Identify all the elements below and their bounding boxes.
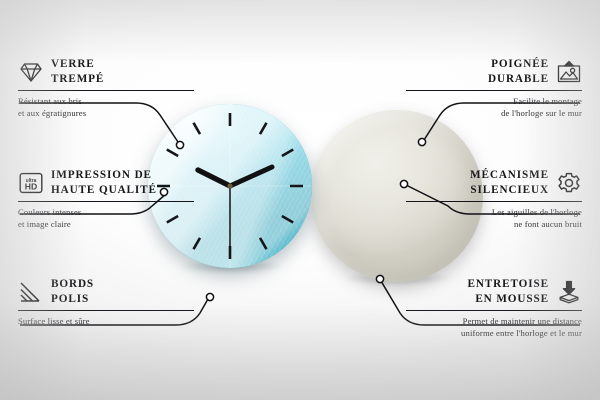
- feature-title: POIGNÉE DURABLE: [488, 57, 549, 87]
- polished-edge-icon: [18, 280, 44, 304]
- feature-entretoise-en-mousse: ENTRETOISE EN MOUSSE Permet de maintenir…: [406, 277, 582, 340]
- feature-description: Surface lisse et sûre: [18, 315, 194, 327]
- feature-bords-polis: BORDS POLIS Surface lisse et sûre: [18, 277, 194, 327]
- feature-description: Facilite le montage de l'horloge sur le …: [406, 95, 582, 119]
- gear-icon: [556, 171, 582, 195]
- feature-description: Résistant aux bris et aux égratignures: [18, 95, 194, 119]
- feature-title: BORDS POLIS: [51, 277, 94, 307]
- product-infographic: VERRE TREMPÉ Résistant aux bris et aux é…: [0, 0, 600, 400]
- picture-hanger-icon: [556, 60, 582, 84]
- feature-divider: [406, 201, 582, 203]
- feature-divider: [18, 201, 194, 203]
- feature-title: VERRE TREMPÉ: [51, 57, 104, 87]
- foam-spacer-icon: [556, 280, 582, 304]
- feature-verre-trempe: VERRE TREMPÉ Résistant aux bris et aux é…: [18, 57, 194, 120]
- feature-description: Couleurs intenses et image claire: [18, 206, 194, 230]
- feature-divider: [406, 310, 582, 312]
- feature-impression-haute-qualite: ultra HD IMPRESSION DE HAUTE QUALITÉ Cou…: [18, 168, 194, 231]
- feature-title: MÉCANISME SILENCIEUX: [470, 168, 549, 198]
- feature-divider: [18, 310, 194, 312]
- feature-divider: [18, 90, 194, 92]
- feature-description: Les aiguilles de l'horloge ne font aucun…: [406, 206, 582, 230]
- feature-divider: [406, 90, 582, 92]
- feature-title: ENTRETOISE EN MOUSSE: [467, 277, 549, 307]
- feature-mecanisme-silencieux: MÉCANISME SILENCIEUX Les aiguilles de l'…: [406, 168, 582, 231]
- feature-description: Permet de maintenir une distance uniform…: [406, 315, 582, 339]
- clock-center-cap: [227, 183, 232, 188]
- feature-poignee-durable: POIGNÉE DURABLE Facilite le montage de l…: [406, 57, 582, 120]
- ultra-hd-icon: ultra HD: [18, 171, 44, 195]
- svg-text:HD: HD: [25, 181, 37, 191]
- diamond-icon: [18, 60, 44, 84]
- feature-title: IMPRESSION DE HAUTE QUALITÉ: [51, 168, 157, 198]
- clock-hands: [198, 167, 272, 247]
